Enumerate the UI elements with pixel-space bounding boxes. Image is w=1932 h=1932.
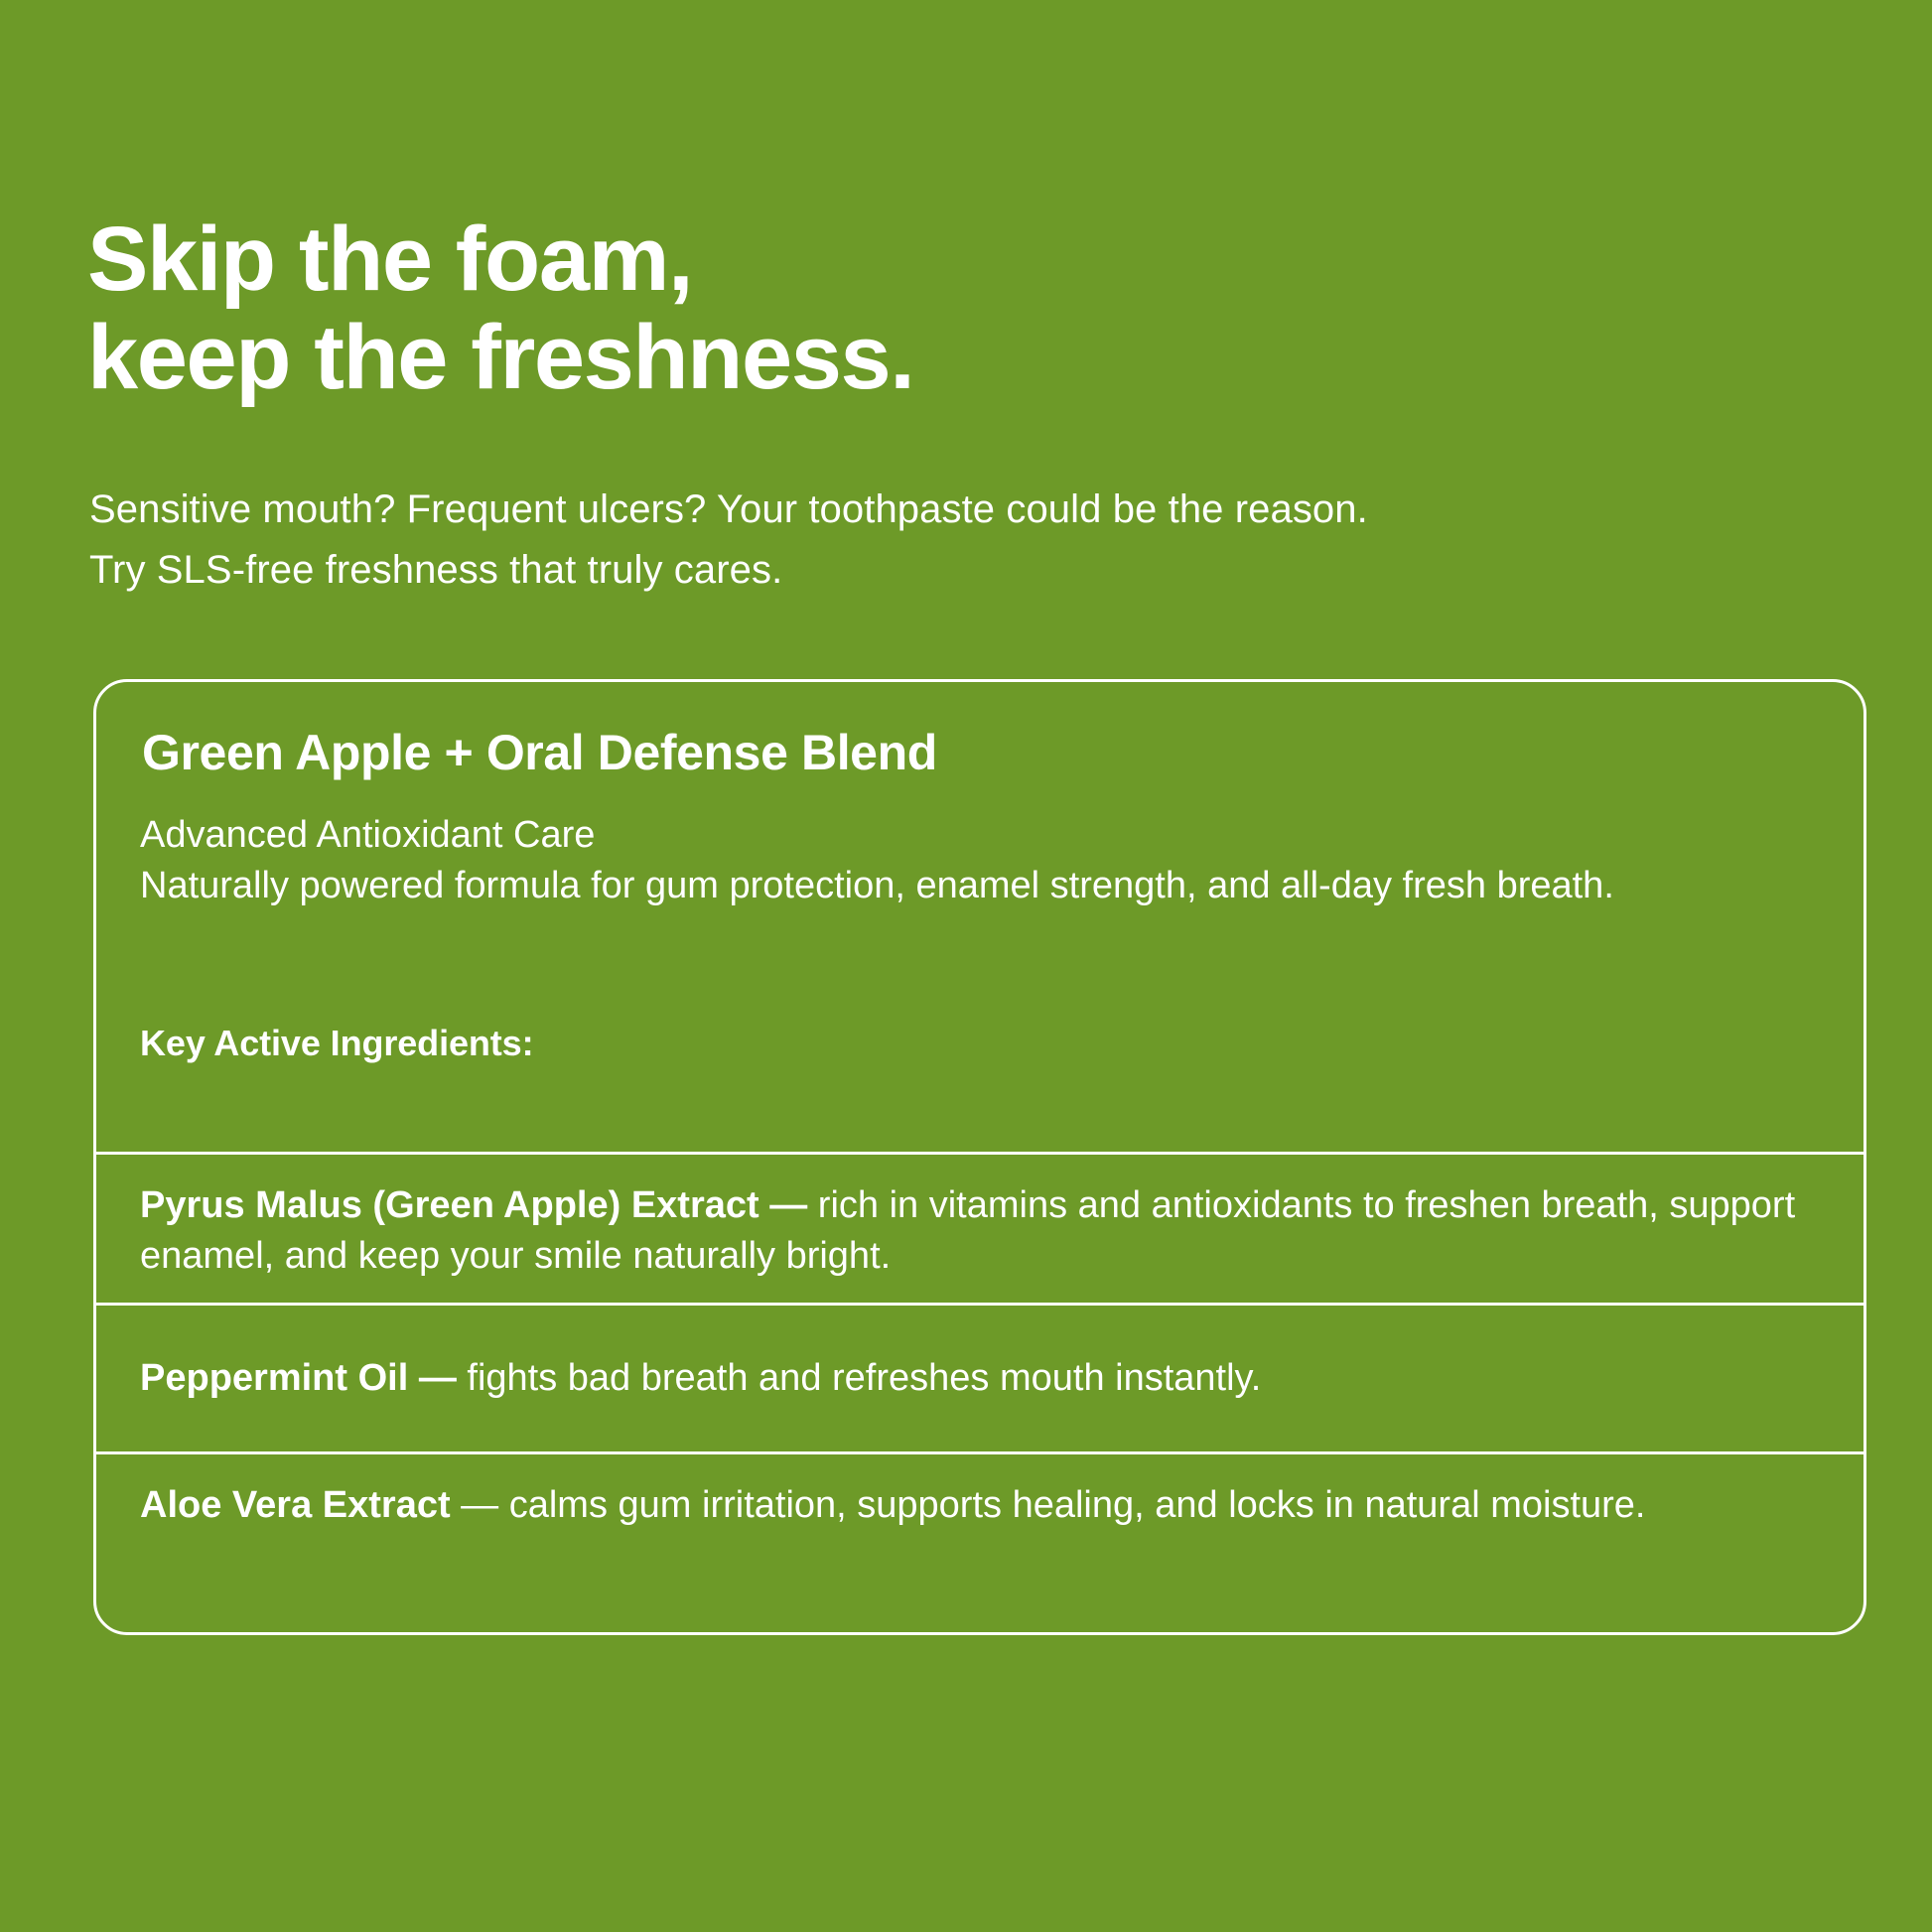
ingredient-name: Peppermint Oil xyxy=(140,1357,408,1399)
ingredient-dash: — xyxy=(461,1484,498,1526)
ingredient-description xyxy=(457,1357,468,1399)
promo-poster: Skip the foam, keep the freshness. Sensi… xyxy=(0,0,1932,1932)
ingredients-list: Pyrus Malus (Green Apple) Extract — rich… xyxy=(96,1152,1863,1558)
ingredient-text: Pyrus Malus (Green Apple) Extract — rich… xyxy=(96,1155,1863,1303)
ingredient-dash: — xyxy=(419,1357,457,1399)
product-blend-card: Green Apple + Oral Defense Blend Advance… xyxy=(93,679,1866,1635)
key-ingredients-label: Key Active Ingredients: xyxy=(140,1023,533,1064)
ingredient-dash-icon xyxy=(408,1357,419,1399)
headline-line-1: Skip the foam, xyxy=(87,210,1577,309)
card-description-text: Naturally powered formula for gum protec… xyxy=(140,861,1828,911)
card-description: Advanced Antioxidant Care Naturally powe… xyxy=(140,810,1828,910)
ingredient-description xyxy=(807,1184,818,1226)
ingredient-row: Pyrus Malus (Green Apple) Extract — rich… xyxy=(96,1152,1863,1303)
ingredient-dash-icon xyxy=(451,1484,462,1526)
ingredient-description-text: fights bad breath and refreshes mouth in… xyxy=(467,1357,1261,1399)
ingredient-text: Peppermint Oil — fights bad breath and r… xyxy=(96,1306,1863,1451)
ingredient-row: Aloe Vera Extract — calms gum irritation… xyxy=(96,1451,1863,1559)
ingredient-row: Peppermint Oil — fights bad breath and r… xyxy=(96,1303,1863,1451)
ingredient-dash-icon xyxy=(759,1184,770,1226)
subheadline: Sensitive mouth? Frequent ulcers? Your t… xyxy=(89,480,1777,601)
ingredient-name: Pyrus Malus (Green Apple) Extract xyxy=(140,1184,759,1226)
ingredient-description-text: calms gum irritation, supports healing, … xyxy=(509,1484,1646,1526)
ingredient-text: Aloe Vera Extract — calms gum irritation… xyxy=(96,1454,1863,1559)
card-title: Green Apple + Oral Defense Blend xyxy=(142,726,937,780)
subheadline-line-1: Sensitive mouth? Frequent ulcers? Your t… xyxy=(89,480,1777,540)
headline-line-2: keep the freshness. xyxy=(87,309,1577,407)
ingredient-description xyxy=(498,1484,509,1526)
page-title: Skip the foam, keep the freshness. xyxy=(87,210,1577,408)
subheadline-line-2: Try SLS-free freshness that truly cares. xyxy=(89,540,1777,601)
ingredient-name: Aloe Vera Extract xyxy=(140,1484,451,1526)
card-subtitle: Advanced Antioxidant Care xyxy=(140,810,1828,861)
ingredient-dash: — xyxy=(769,1184,807,1226)
